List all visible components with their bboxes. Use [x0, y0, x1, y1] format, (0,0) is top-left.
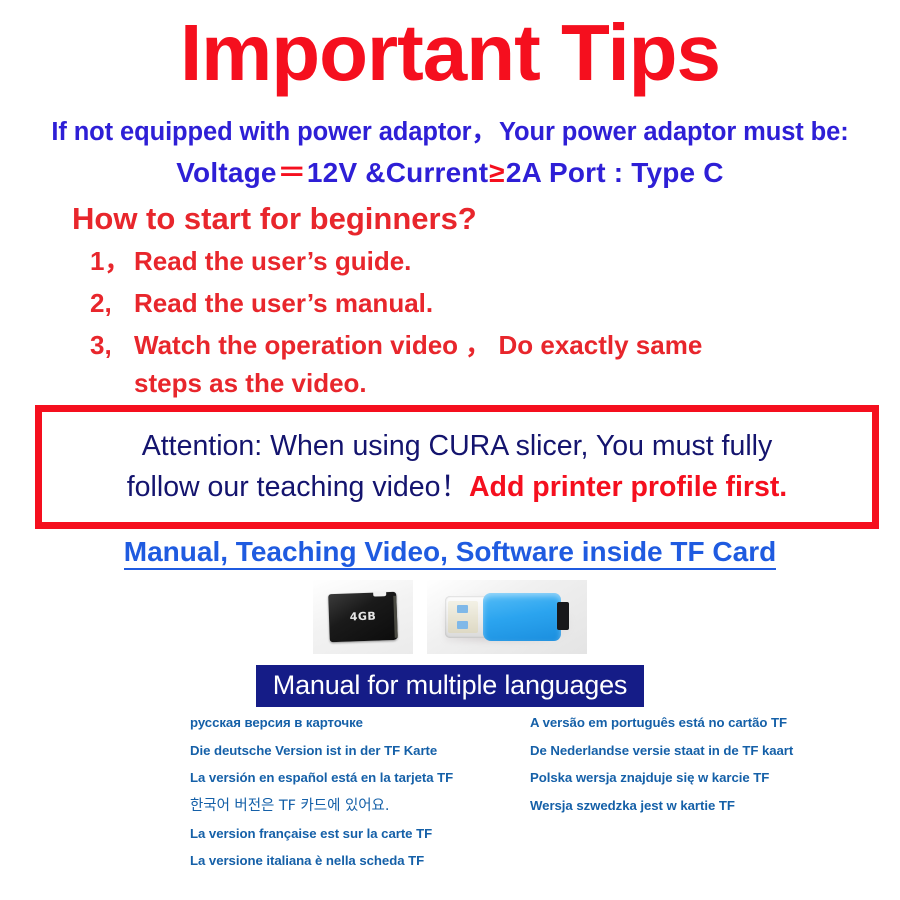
language-line-korean: 한국어 버전은 TF 카드에 있어요.: [190, 799, 520, 814]
media-photos-row: 4GB: [0, 578, 900, 656]
tf-card-contents-label: Manual, Teaching Video, Software inside …: [124, 536, 776, 570]
step-2-number: 2,: [90, 282, 134, 324]
language-line-swedish: Wersja szwedzka jest w kartie TF: [530, 799, 870, 812]
language-column-left: русская версия в карточке Die deutsche V…: [190, 716, 520, 882]
adaptor-line1-comma: ，: [472, 118, 500, 146]
language-line-russian: русская версия в карточке: [190, 716, 520, 729]
language-line-french: La version française est sur la carte TF: [190, 827, 520, 840]
usb-pin-upper: [457, 605, 468, 613]
step-3-number: 3,: [90, 324, 134, 366]
step-2-text: Read the user’s manual.: [134, 288, 433, 318]
usb-reader-tip: [557, 602, 569, 630]
beginners-heading: How to start for beginners?: [0, 198, 900, 240]
step-1-text: Read the user’s guide.: [134, 246, 411, 276]
voltage-label: Voltage: [176, 157, 276, 188]
adaptor-requirement-line-2: Voltage＝12V &Current≥2A Port : Type C: [0, 152, 900, 193]
step-3-continuation: steps as the video.: [0, 366, 900, 401]
microsd-card-photo: 4GB: [313, 580, 413, 654]
current-label: &Current: [357, 157, 488, 188]
adaptor-line1-part1: If not equipped with power adaptor: [51, 118, 471, 146]
attention-line-1: Attention: When using CURA slicer, You m…: [142, 426, 772, 467]
language-line-dutch: De Nederlandse versie staat in de TF kaa…: [530, 744, 870, 757]
beginner-step-2: 2,Read the user’s manual.: [0, 282, 900, 324]
tf-card-contents-link[interactable]: Manual, Teaching Video, Software inside …: [0, 536, 900, 568]
voltage-value: 12V: [307, 157, 357, 188]
attention-callout-box: Attention: When using CURA slicer, You m…: [35, 405, 879, 529]
adaptor-requirement-line-1: If not equipped with power adaptor，Your …: [0, 114, 900, 152]
step-1-number: 1，: [90, 240, 134, 282]
beginner-step-3: 3,Watch the operation video ， Do exactly…: [0, 324, 900, 366]
beginner-step-1: 1，Read the user’s guide.: [0, 240, 900, 282]
usb-card-reader-photo: [427, 580, 587, 654]
greater-equal-sign-icon: ≥: [488, 157, 506, 188]
equals-sign-icon: ＝: [277, 157, 307, 188]
microsd-notch: [373, 591, 386, 596]
language-column-right: A versão em português está no cartão TF …: [530, 716, 870, 827]
adaptor-line1-part2: Your power adaptor must be:: [499, 118, 849, 146]
language-line-portuguese: A versão em português está no cartão TF: [530, 716, 870, 729]
microsd-card-icon: 4GB: [328, 592, 398, 642]
attention-line-2-red: Add printer profile first.: [469, 471, 787, 503]
usb-reader-body: [483, 593, 561, 641]
attention-line-2: follow our teaching video！Add printer pr…: [127, 467, 787, 508]
page-title: Important Tips: [0, 8, 900, 98]
language-line-polish: Polska wersja znajduje się w karcie TF: [530, 771, 870, 784]
language-availability-list: русская версия в карточке Die deutsche V…: [0, 716, 900, 882]
language-line-italian: La versione italiana è nella scheda TF: [190, 854, 520, 867]
microsd-capacity-label: 4GB: [329, 609, 397, 624]
port-spec: Port : Type C: [541, 157, 724, 188]
multilanguage-banner: Manual for multiple languages: [0, 665, 900, 707]
power-adaptor-requirement: If not equipped with power adaptor，Your …: [0, 114, 900, 193]
step-3-text: Watch the operation video ， Do exactly s…: [134, 330, 702, 360]
multilanguage-banner-label: Manual for multiple languages: [256, 665, 644, 707]
language-line-german: Die deutsche Version ist in der TF Karte: [190, 744, 520, 757]
attention-line-2-navy: follow our teaching video！: [127, 471, 469, 503]
language-line-spanish: La versión en español está en la tarjeta…: [190, 771, 520, 784]
beginners-section: How to start for beginners? 1，Read the u…: [0, 198, 900, 401]
current-value: 2A: [506, 157, 541, 188]
usb-pin-lower: [457, 621, 468, 629]
